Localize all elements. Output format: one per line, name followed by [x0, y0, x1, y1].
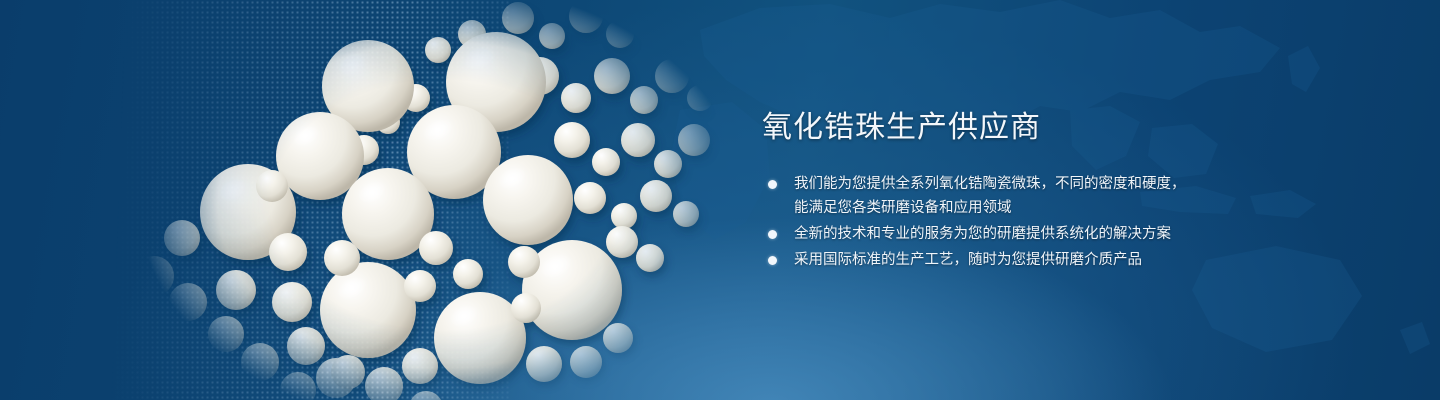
list-item-line-1: 全新的技术和专业的服务为您的研磨提供系统化的解决方案	[794, 226, 1171, 242]
promo-banner: 氧化锆珠生产供应商 我们能为您提供全系列氧化锆陶瓷微珠，不同的密度和硬度， 能满…	[0, 0, 1440, 400]
list-item-line-1: 采用国际标准的生产工艺，随时为您提供研磨介质产品	[794, 252, 1142, 268]
list-item-line-2: 能满足您各类研磨设备和应用领域	[794, 196, 1282, 220]
bullet-dot-icon	[768, 256, 777, 265]
list-item: 采用国际标准的生产工艺，随时为您提供研磨介质产品	[762, 248, 1282, 272]
banner-copy: 氧化锆珠生产供应商 我们能为您提供全系列氧化锆陶瓷微珠，不同的密度和硬度， 能满…	[762, 108, 1282, 274]
bullet-dot-icon	[768, 230, 777, 239]
bullet-dot-icon	[768, 180, 777, 189]
zirconia-beads-photo	[120, 0, 740, 400]
list-item: 全新的技术和专业的服务为您的研磨提供系统化的解决方案	[762, 222, 1282, 246]
page-title: 氧化锆珠生产供应商	[762, 108, 1282, 148]
list-item-line-1: 我们能为您提供全系列氧化锆陶瓷微珠，不同的密度和硬度，	[794, 176, 1186, 192]
feature-list: 我们能为您提供全系列氧化锆陶瓷微珠，不同的密度和硬度， 能满足您各类研磨设备和应…	[762, 172, 1282, 272]
list-item: 我们能为您提供全系列氧化锆陶瓷微珠，不同的密度和硬度， 能满足您各类研磨设备和应…	[762, 172, 1282, 220]
